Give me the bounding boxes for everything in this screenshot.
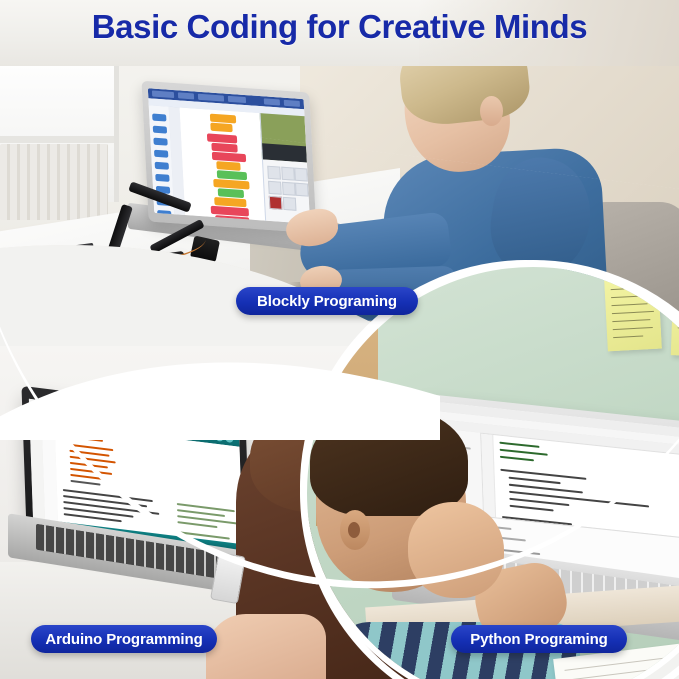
- panel-python-programming: [306, 266, 679, 679]
- laptop-lid: [141, 81, 316, 234]
- product-banner: Basic Coding for Creative Minds Blockly …: [0, 0, 679, 679]
- stage-preview: [260, 113, 307, 162]
- wall-shelf: [0, 295, 205, 315]
- boy2-fist: [408, 502, 504, 598]
- robot-wire-2: [109, 246, 196, 274]
- badge-blockly-programming[interactable]: Blockly Programing: [236, 287, 418, 315]
- boy2-ear: [340, 510, 370, 550]
- shelf-pot-1: [38, 283, 59, 300]
- sticky-note-1: [604, 277, 662, 352]
- badge-arduino-programming[interactable]: Arduino Programming: [31, 625, 217, 653]
- shelf-pot-3: [104, 286, 130, 298]
- page-title: Basic Coding for Creative Minds: [0, 8, 679, 46]
- badge-python-programming[interactable]: Python Programing: [451, 625, 627, 653]
- servo-2: [75, 243, 95, 259]
- servo-1: [41, 251, 61, 268]
- boy-ear: [480, 96, 503, 126]
- sticky-note-2: [671, 285, 679, 357]
- block-canvas: [180, 107, 266, 220]
- shelf-pot-2: [70, 283, 91, 300]
- girl-arm: [206, 614, 326, 679]
- robot-arm-base: [24, 251, 184, 321]
- line-number-gutter: [481, 434, 496, 518]
- radiator: [0, 144, 108, 220]
